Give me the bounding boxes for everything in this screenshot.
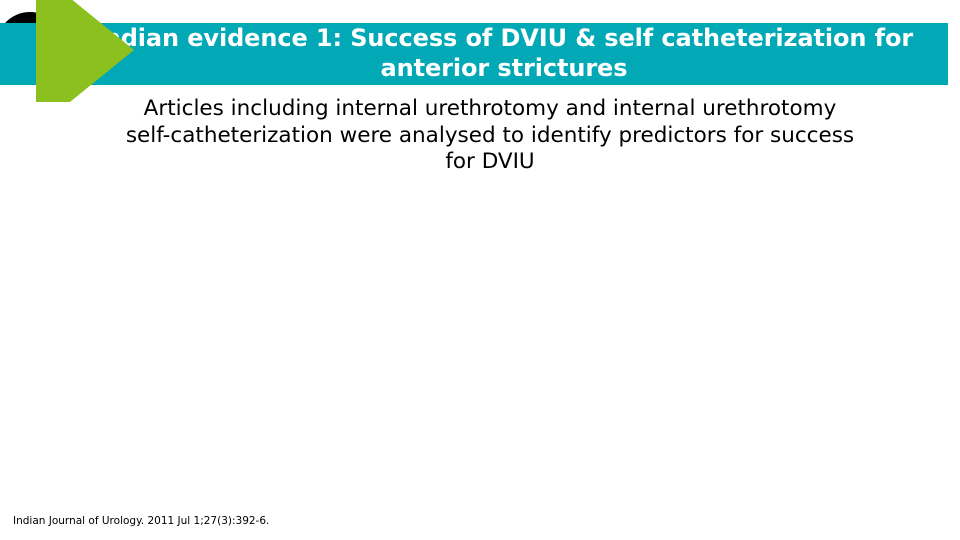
body-text-block: Articles including internal urethrotomy … <box>110 96 870 176</box>
slide-canvas: Indian evidence 1: Success of DVIU & sel… <box>0 0 960 540</box>
body-paragraph-2: self-catheterization were analysed to id… <box>110 123 870 176</box>
page-title: Indian evidence 1: Success of DVIU & sel… <box>0 23 948 83</box>
body-paragraph-1: Articles including internal urethrotomy … <box>110 96 870 123</box>
chevron-right-icon <box>0 0 140 106</box>
source-citation: Indian Journal of Urology. 2011 Jul 1;27… <box>13 514 269 528</box>
logo-chevron-layer <box>0 0 140 106</box>
title-banner: Indian evidence 1: Success of DVIU & sel… <box>0 23 948 85</box>
